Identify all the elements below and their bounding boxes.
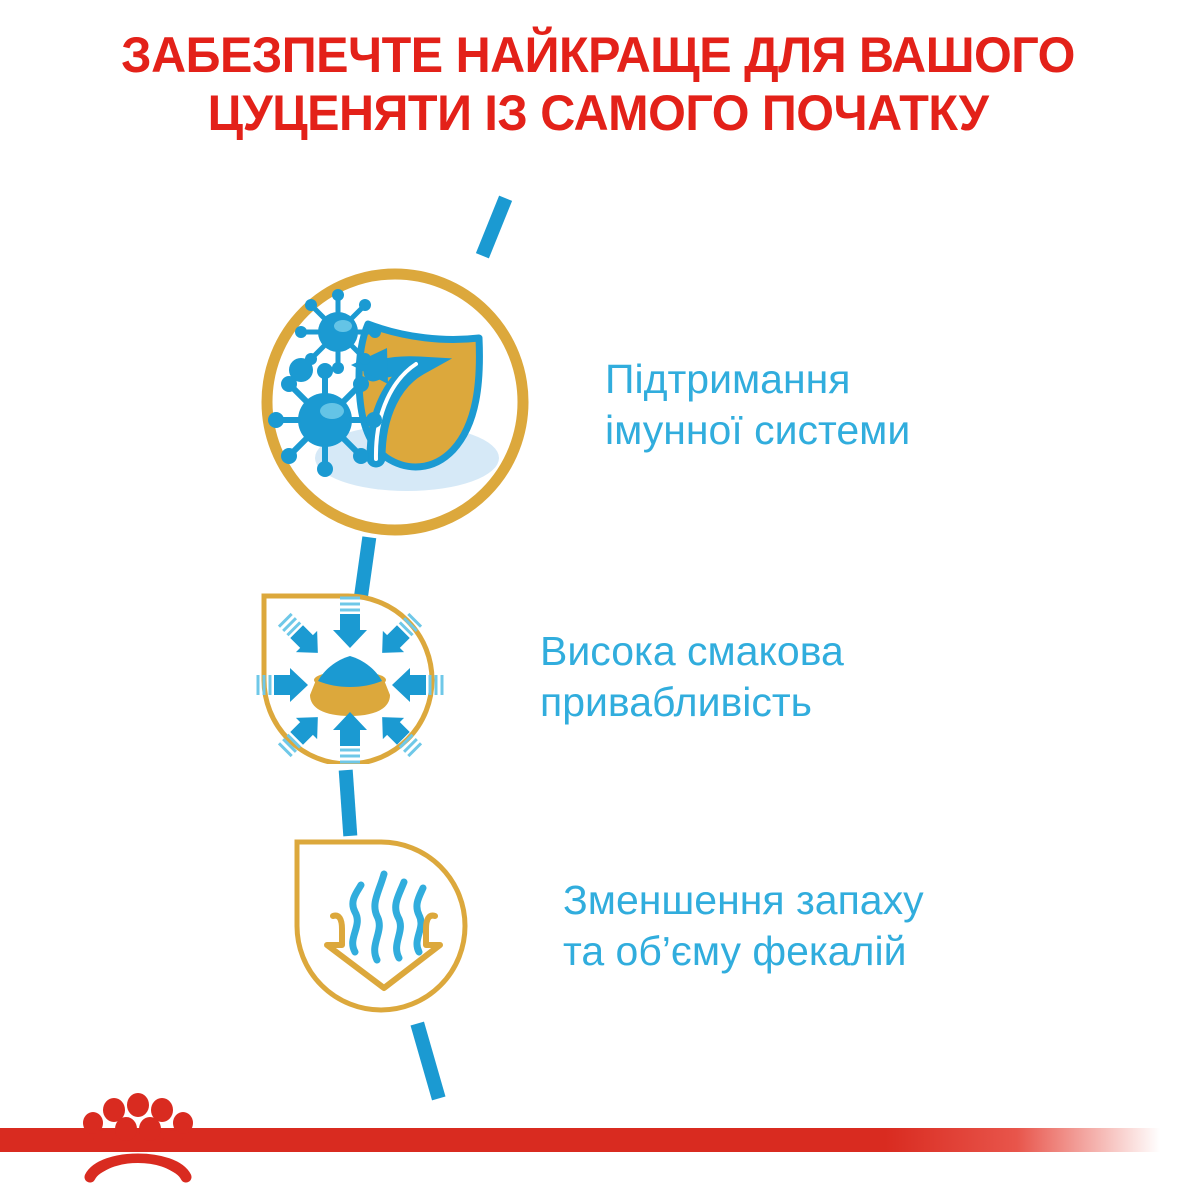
benefit-label-stool-odour-reduction: Зменшення запаху та об’єму фекалій bbox=[563, 875, 924, 977]
down-arrow-odour-icon bbox=[285, 830, 481, 1021]
shield-virus-icon bbox=[255, 262, 535, 547]
connector-dash-bottom bbox=[411, 1022, 446, 1101]
benefit-item-high-palatability: Висока смакова привабливість bbox=[252, 584, 844, 769]
page-title: ЗАБЕЗПЕЧТЕ НАЙКРАЩЕ ДЛЯ ВАШОГО ЦУЦЕНЯТИ … bbox=[18, 26, 1178, 142]
benefit-label-immune-support: Підтримання імунної системи bbox=[605, 354, 910, 456]
connector-dash-lower-middle bbox=[339, 770, 358, 837]
page-title-line-2: ЦУЦЕНЯТИ ІЗ САМОГО ПОЧАТКУ bbox=[18, 84, 1178, 142]
shield-virus-icon-svg bbox=[255, 262, 535, 542]
food-bowl-arrows-icon bbox=[252, 584, 448, 769]
down-arrow-odour-icon-svg bbox=[285, 830, 481, 1016]
benefit-label-high-palatability: Висока смакова привабливість bbox=[540, 626, 844, 728]
page-title-line-1: ЗАБЕЗПЕЧТЕ НАЙКРАЩЕ ДЛЯ ВАШОГО bbox=[18, 26, 1178, 84]
virus-glyph-large bbox=[268, 363, 382, 477]
benefit-item-stool-odour-reduction: Зменшення запаху та об’єму фекалій bbox=[285, 830, 924, 1021]
food-bowl-arrows-icon-svg bbox=[252, 584, 448, 764]
benefit-item-immune-support: Підтримання імунної системи bbox=[255, 262, 910, 547]
crown-icon bbox=[78, 1093, 198, 1185]
connector-dash-top bbox=[476, 196, 512, 259]
poster-canvas: ЗАБЕЗПЕЧТЕ НАЙКРАЩЕ ДЛЯ ВАШОГО ЦУЦЕНЯТИ … bbox=[0, 0, 1196, 1200]
